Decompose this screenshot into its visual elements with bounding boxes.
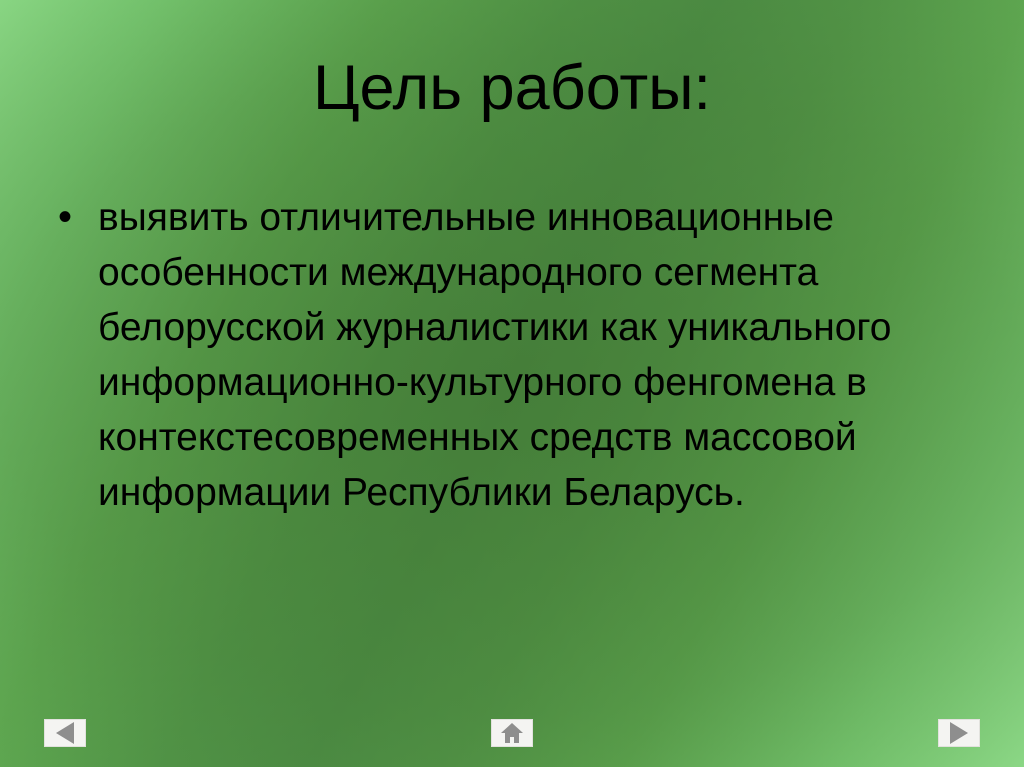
triangle-left-icon <box>56 722 74 744</box>
presentation-slide: Цель работы: • выявить отличительные инн… <box>0 0 1024 767</box>
slide-title: Цель работы: <box>0 52 1024 124</box>
previous-slide-button[interactable] <box>44 719 86 747</box>
home-slide-button[interactable] <box>491 719 533 747</box>
slide-body: • выявить отличительные инновационные ос… <box>52 190 972 520</box>
bullet-item-text: выявить отличительные инновационные особ… <box>98 190 972 520</box>
triangle-right-icon <box>950 722 968 744</box>
next-slide-button[interactable] <box>938 719 980 747</box>
bullet-list-item: • выявить отличительные инновационные ос… <box>52 190 972 520</box>
home-icon <box>501 723 523 743</box>
bullet-marker-icon: • <box>52 190 98 245</box>
